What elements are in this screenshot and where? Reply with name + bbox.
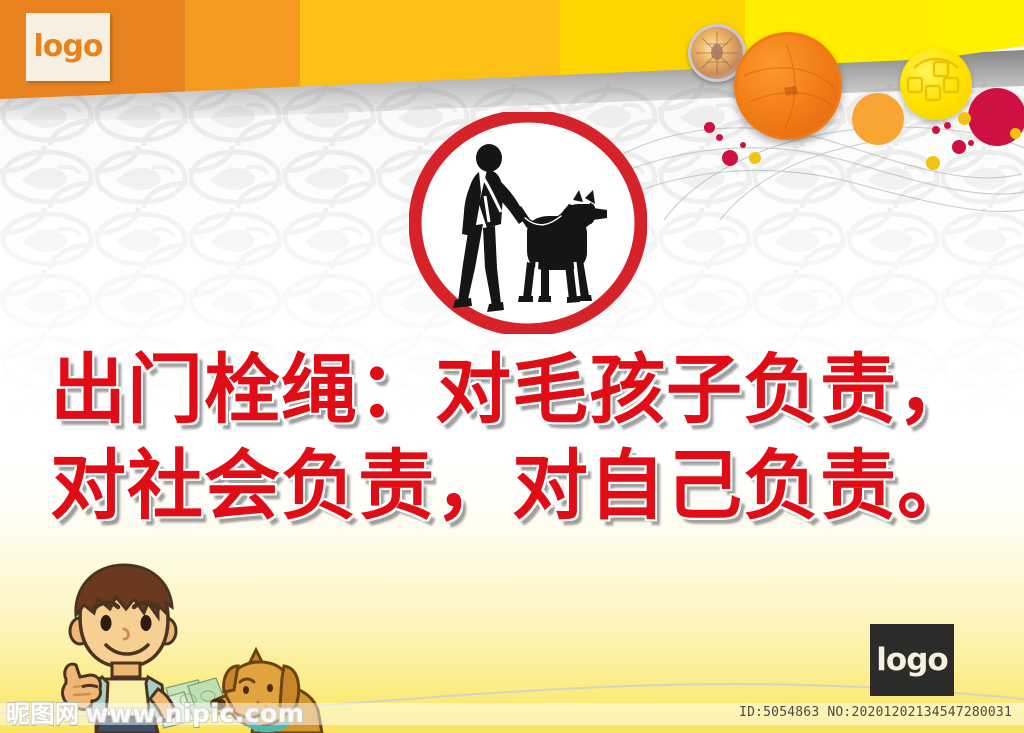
dot-yellow-3 bbox=[958, 112, 971, 125]
footer-logo[interactable]: logo bbox=[870, 624, 954, 696]
dot-crimson-6 bbox=[944, 122, 951, 129]
poster-canvas: logo bbox=[0, 0, 1024, 733]
dot-crimson-8 bbox=[968, 140, 974, 146]
dot-yellow-4 bbox=[1010, 128, 1021, 139]
ball-orange-large-detail bbox=[734, 32, 842, 140]
ball-yellow-pattern-detail bbox=[900, 48, 972, 120]
id-text: ID:5054863 NO:20201202134547280031 bbox=[739, 705, 1012, 720]
dot-yellow-2 bbox=[926, 156, 940, 170]
ball-orange-small bbox=[852, 93, 904, 145]
headline: 出门栓绳：对毛孩子负责， 对社会负责，对自己负责。 bbox=[0, 342, 1024, 534]
header-logo[interactable]: logo bbox=[26, 13, 110, 81]
header-logo-label: logo bbox=[34, 32, 103, 62]
dot-crimson-7 bbox=[952, 140, 966, 154]
dot-crimson-3 bbox=[722, 150, 738, 166]
dot-crimson-2 bbox=[716, 134, 723, 141]
dot-yellow-1 bbox=[749, 152, 761, 164]
footer-logo-label: logo bbox=[876, 645, 947, 676]
dot-crimson-5 bbox=[932, 126, 940, 134]
dog-on-leash-sign bbox=[409, 112, 647, 334]
headline-line-1: 出门栓绳：对毛孩子负责， bbox=[0, 342, 1024, 438]
dot-crimson-1 bbox=[704, 122, 715, 133]
headline-line-2: 对社会负责，对自己负责。 bbox=[0, 438, 1024, 534]
dot-crimson-4 bbox=[740, 142, 746, 148]
